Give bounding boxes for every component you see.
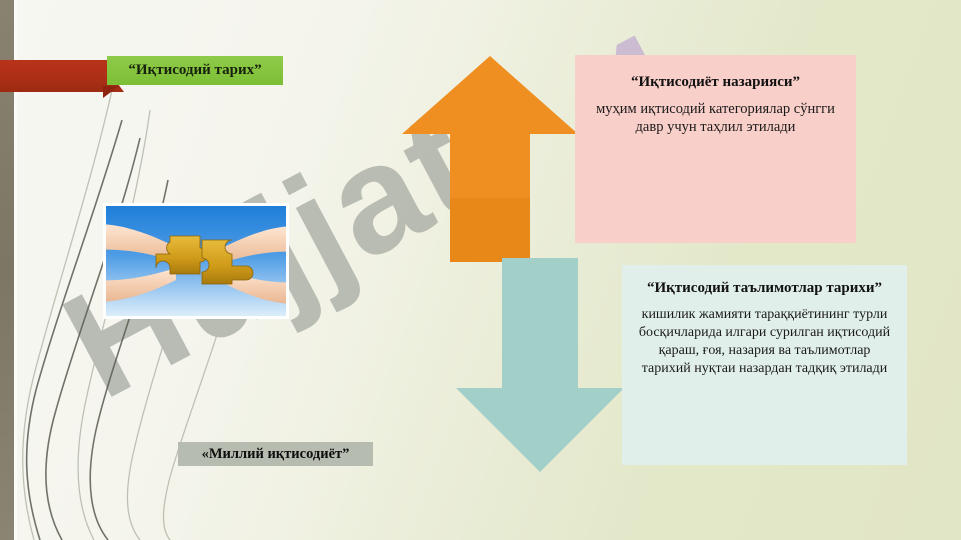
presentation-slide: Hujjat “Иқтисодий тарих” <box>0 0 961 540</box>
title-ribbon-accent <box>0 60 118 92</box>
national-economy-label: «Миллий иқтисодиёт” <box>178 442 373 466</box>
arrow-up-icon <box>402 56 578 262</box>
puzzle-photo <box>103 203 289 319</box>
puzzle-photo-art <box>106 206 286 316</box>
arrow-down-icon <box>456 258 624 472</box>
page-title: “Иқтисодий тарих” <box>128 62 261 79</box>
national-economy-label-text: «Миллий иқтисодиёт” <box>202 446 350 463</box>
box-economic-theory: “Иқтисодиёт назарияси” муҳим иқтисодий к… <box>575 55 856 243</box>
title-ribbon-fold <box>103 86 119 98</box>
box-history-of-doctrines-body: кишилик жамияти тараққиётининг турли бос… <box>638 306 891 379</box>
box-history-of-doctrines-title: “Иқтисодий таълимотлар тарихи” <box>638 279 891 298</box>
box-economic-theory-title: “Иқтисодиёт назарияси” <box>589 73 842 92</box>
box-history-of-doctrines: “Иқтисодий таълимотлар тарихи” кишилик ж… <box>622 265 907 465</box>
slide-title-banner: “Иқтисодий тарих” <box>107 56 283 85</box>
box-economic-theory-body: муҳим иқтисодий категориялар сўнгги давр… <box>589 100 842 137</box>
